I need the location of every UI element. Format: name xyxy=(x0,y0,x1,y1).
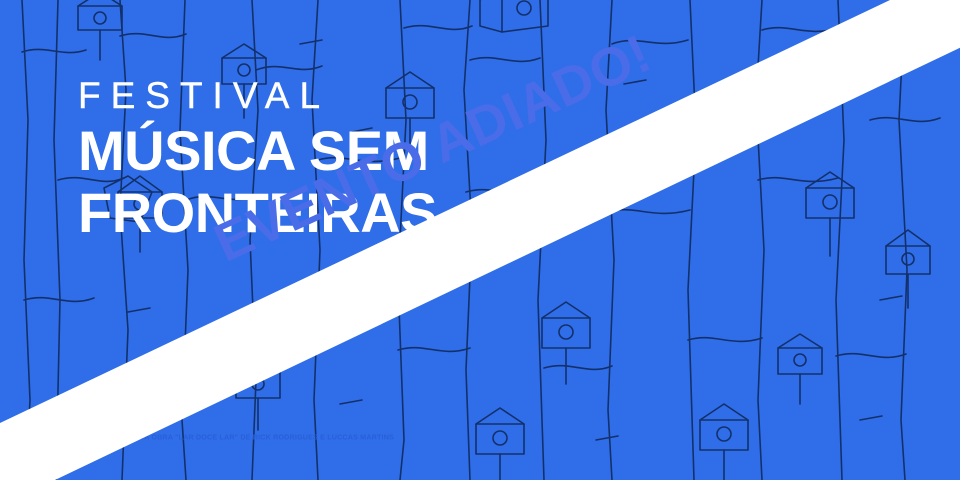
footer-logos: Apoio PAROLE CULTURAL CASA DO GOVERNADOR… xyxy=(0,360,960,480)
event-poster: FESTIVAL MÚSICA SEM FRONTEIRAS ILUSTRAÇÃ… xyxy=(0,0,960,480)
festival-kicker: FESTIVAL xyxy=(78,76,437,116)
